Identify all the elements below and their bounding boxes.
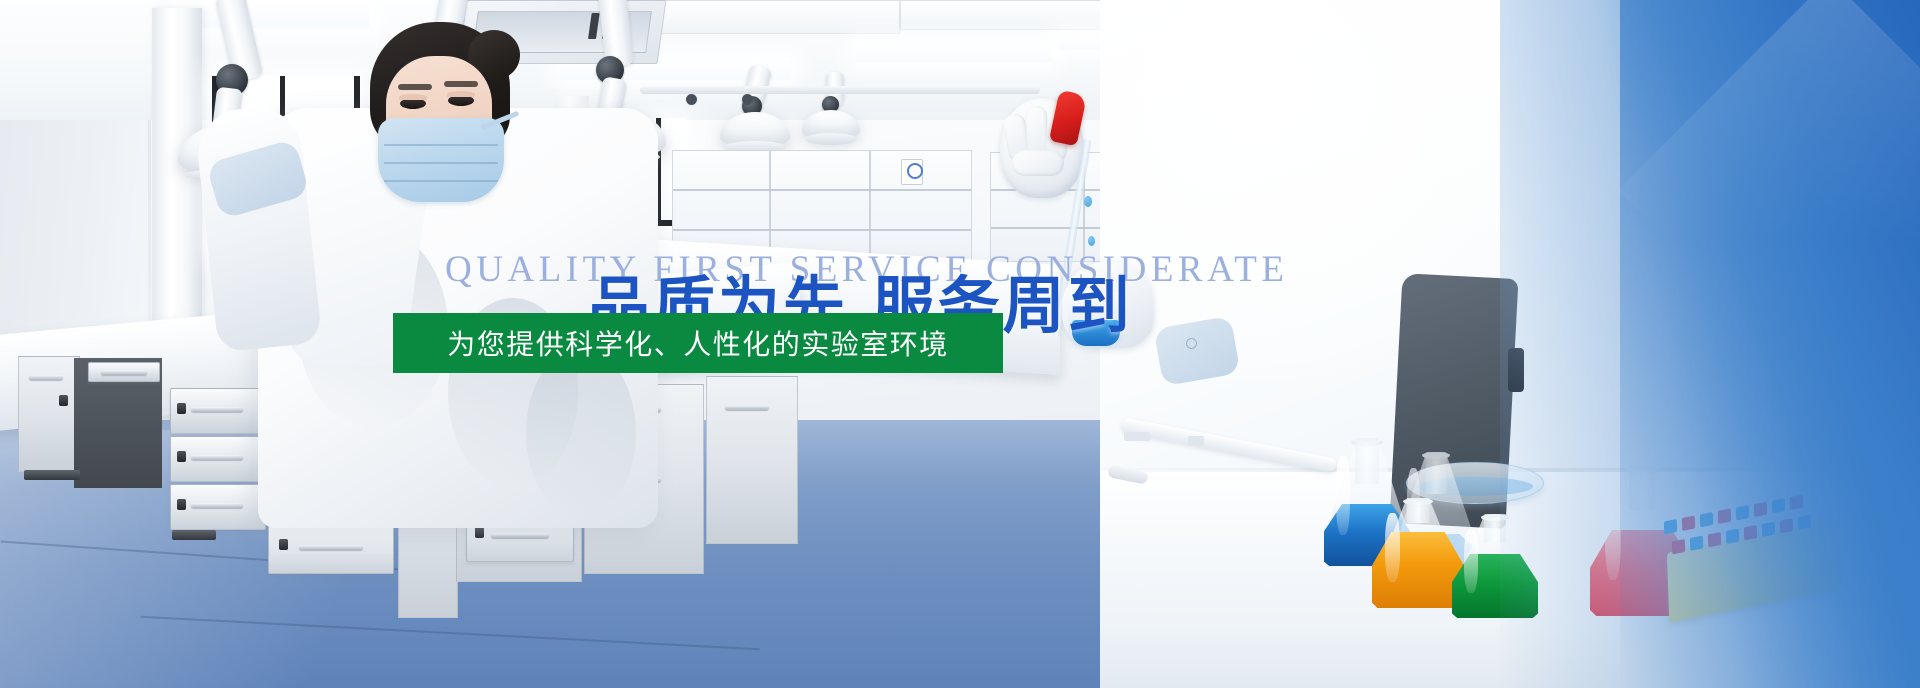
subtitle-bar: 为您提供科学化、人性化的实验室环境: [393, 313, 1003, 373]
hero-banner: QUALITY FIRST SERVICE CONSIDERATE 品质为先 服…: [0, 0, 1920, 688]
subtitle-text: 为您提供科学化、人性化的实验室环境: [447, 323, 949, 363]
banner-text-block: QUALITY FIRST SERVICE CONSIDERATE 品质为先 服…: [0, 0, 1920, 688]
